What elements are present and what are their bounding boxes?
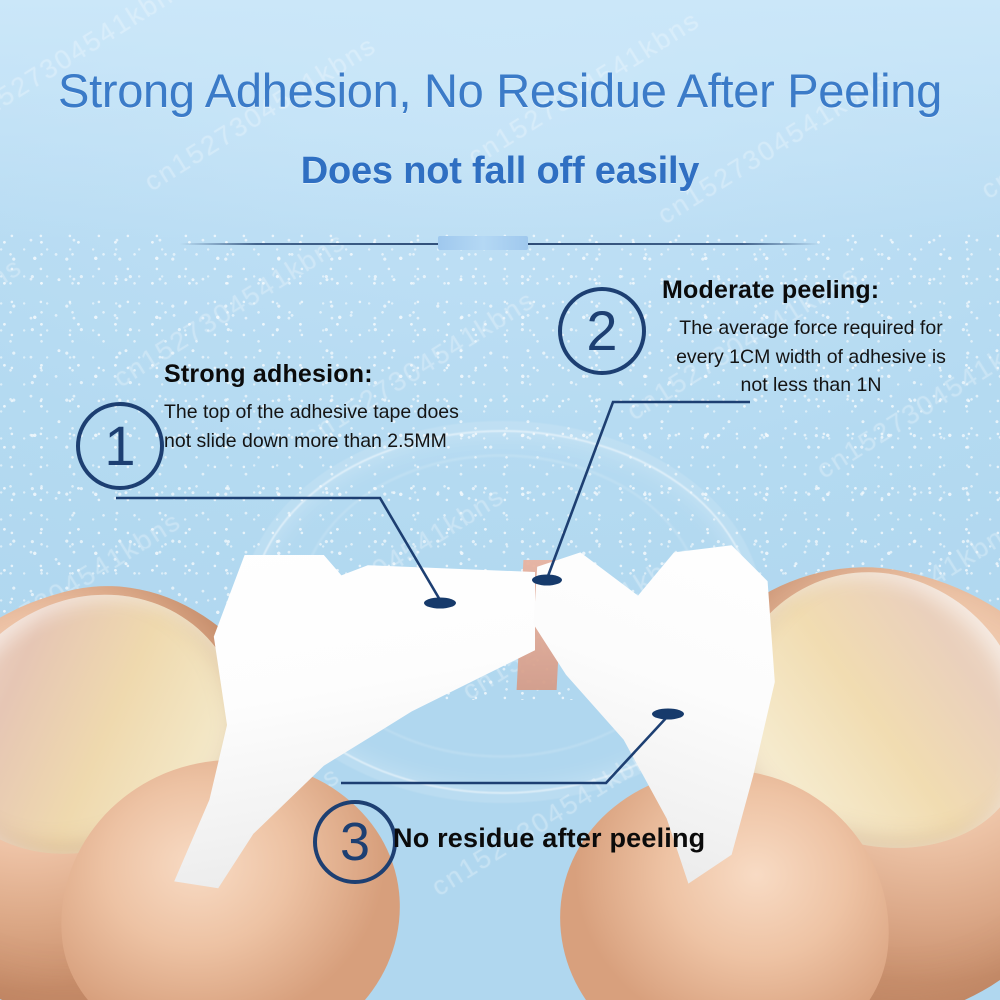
callout-title-3: No residue after peeling xyxy=(393,823,705,854)
callout-title-2: Moderate peeling: xyxy=(662,276,879,305)
callout-number-2: 2 xyxy=(558,287,646,375)
background-top-glow xyxy=(0,0,1000,240)
callout-number-3: 3 xyxy=(313,800,397,884)
callout-body-1: The top of the adhesive tape does not sl… xyxy=(164,398,464,455)
page-subtitle: Does not fall off easily xyxy=(0,150,1000,193)
section-divider-pill xyxy=(438,236,528,250)
callout-title-1: Strong adhesion: xyxy=(164,360,373,389)
page-title: Strong Adhesion, No Residue After Peelin… xyxy=(0,63,1000,118)
product-photo xyxy=(0,520,1000,1000)
callout-number-1: 1 xyxy=(76,402,164,490)
callout-body-2: The average force required for every 1CM… xyxy=(661,314,961,400)
infographic-canvas: cn1527304541kbnscn1527304541kbnscn152730… xyxy=(0,0,1000,1000)
